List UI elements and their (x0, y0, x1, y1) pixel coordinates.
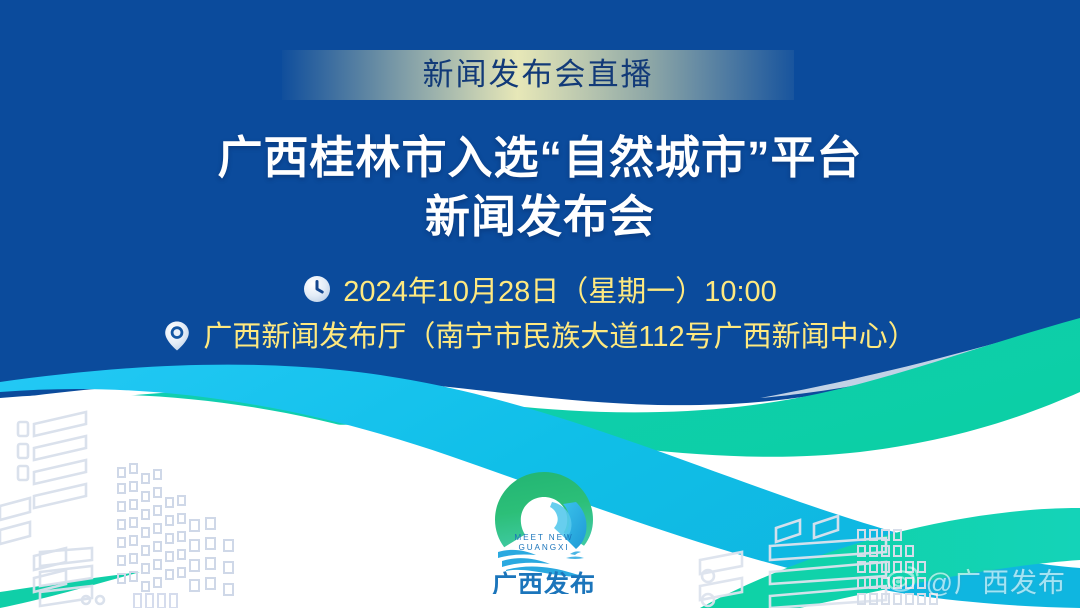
banner-label: 新闻发布会直播 (282, 50, 794, 100)
weibo-icon (886, 564, 920, 597)
logo-boat-icon (566, 551, 584, 559)
event-datetime-row: 2024年10月28日（星期一）10:00 (0, 268, 1080, 311)
location-pin-icon (163, 320, 191, 348)
event-venue-text: 广西新闻发布厅（南宁市民族大道112号广西新闻中心） (203, 313, 916, 355)
guangxi-fabu-logo: MEET NEW GUANGXI 广西发布 (492, 466, 596, 594)
weibo-watermark: @广西发布 (886, 561, 1066, 600)
event-datetime-text: 2024年10月28日（星期一）10:00 (343, 268, 777, 310)
clock-icon (303, 275, 331, 303)
page-title: 广西桂林市入选“自然城市”平台 新闻发布会 (0, 128, 1080, 246)
weibo-handle: @广西发布 (926, 561, 1066, 600)
logo-tagline-line1: MEET NEW (514, 533, 573, 542)
title-line-1: 广西桂林市入选“自然城市”平台 (0, 128, 1080, 187)
event-venue-row: 广西新闻发布厅（南宁市民族大道112号广西新闻中心） (0, 313, 1080, 360)
press-conference-poster: 新闻发布会直播 广西桂林市入选“自然城市”平台 新闻发布会 2024年10月28… (0, 0, 1080, 608)
logo-tagline-line2: GUANGXI (518, 543, 569, 552)
title-line-2: 新闻发布会 (0, 187, 1080, 246)
logo-brand-text: 广西发布 (492, 570, 596, 594)
